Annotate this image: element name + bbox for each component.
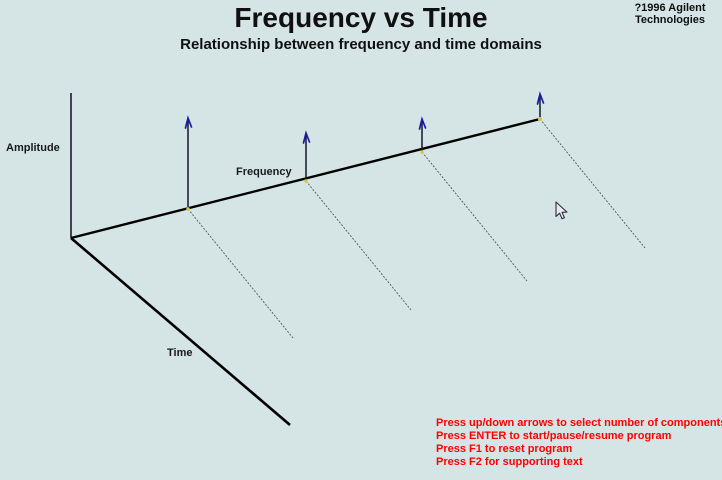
instruction-line-2: Press ENTER to start/pause/resume progra… bbox=[436, 430, 722, 443]
time-projection-lines bbox=[188, 119, 645, 338]
axes-diagram bbox=[0, 0, 722, 480]
time-projection-line bbox=[422, 152, 527, 281]
instruction-line-1: Press up/down arrows to select number of… bbox=[436, 417, 722, 430]
frequency-component-2 bbox=[304, 133, 310, 183]
component-node bbox=[420, 150, 423, 153]
mouse-pointer-icon bbox=[555, 201, 569, 221]
instruction-line-4: Press F2 for supporting text bbox=[436, 456, 722, 469]
component-node bbox=[538, 117, 542, 121]
frequency-axis-label: Frequency bbox=[236, 166, 292, 178]
time-axis-label: Time bbox=[167, 347, 192, 359]
frequency-component-4 bbox=[538, 94, 544, 121]
time-axis bbox=[71, 238, 290, 425]
frequency-component-1 bbox=[186, 118, 192, 211]
time-projection-line bbox=[188, 209, 293, 338]
amplitude-axis-label: Amplitude bbox=[6, 142, 60, 154]
component-node bbox=[304, 179, 307, 182]
component-node bbox=[186, 207, 189, 210]
time-projection-line bbox=[306, 181, 411, 310]
plot-canvas: Frequency vs Time Relationship between f… bbox=[0, 0, 722, 480]
instruction-line-3: Press F1 to reset program bbox=[436, 443, 722, 456]
keyboard-instructions: Press up/down arrows to select number of… bbox=[436, 417, 722, 469]
time-projection-line bbox=[540, 119, 645, 248]
